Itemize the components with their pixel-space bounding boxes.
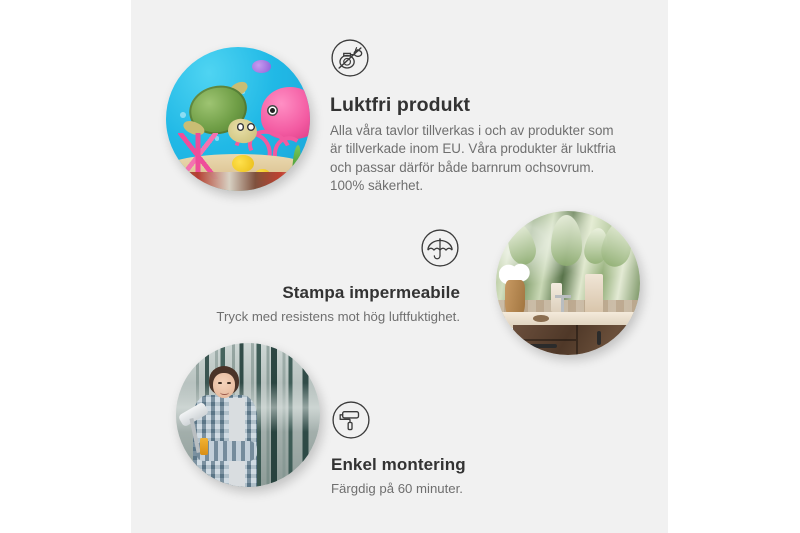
drawer-handle [527,344,557,348]
woman-smile [220,390,229,395]
bubble-icon [180,112,186,118]
feature-description: Tryck med resistens mot hög luftfuktighe… [180,308,460,326]
yellow-fish-icon [232,155,254,172]
seabed-foreground-strip [166,172,310,191]
leaf-shape [502,219,539,267]
leaf-shape [551,215,583,266]
infographic-canvas: Luktfri produkt Alla våra tavlor tillver… [0,0,800,533]
folded-towel [585,274,602,314]
no-odour-spray-bottle-icon [330,38,620,83]
underwater-cartoon-photo [166,47,310,191]
feature-title: Enkel montering [331,453,581,477]
woman-eye [227,382,231,384]
bathroom-artwork [496,211,640,355]
feature-description: Färgdig på 60 minuter. [331,480,581,498]
paint-roller-grip [200,438,207,455]
bathroom-leaf-wallpaper-photo [496,211,640,355]
paint-roller-icon [331,400,581,445]
feature-waterproof: Stampa impermeabile Tryck med resistens … [180,228,460,326]
feature-description: Alla våra tavlor tillverkas i och av pro… [330,122,620,196]
soap-dish [533,315,549,322]
purple-fish-icon [252,60,271,73]
feature-odour-free: Luktfri produkt Alla våra tavlor tillver… [330,38,620,196]
cabinet-seam [513,339,575,341]
feature-title: Luktfri produkt [330,92,620,118]
umbrella-icon [180,228,460,273]
woman-paint-roller-forest-photo [176,343,320,487]
leaf-shape [597,217,636,269]
faucet-icon [561,295,564,314]
turtle-eye [247,123,255,131]
feature-easy-mounting: Enkel montering Färgdig på 60 minuter. [331,400,581,498]
cabinet-seam [576,325,578,355]
feature-title: Stampa impermeabile [180,281,460,305]
forest-artwork [176,343,320,487]
cabinet-handle [597,331,601,346]
wooden-vanity-cabinet [513,325,640,355]
underwater-cartoon-artwork [166,47,310,191]
